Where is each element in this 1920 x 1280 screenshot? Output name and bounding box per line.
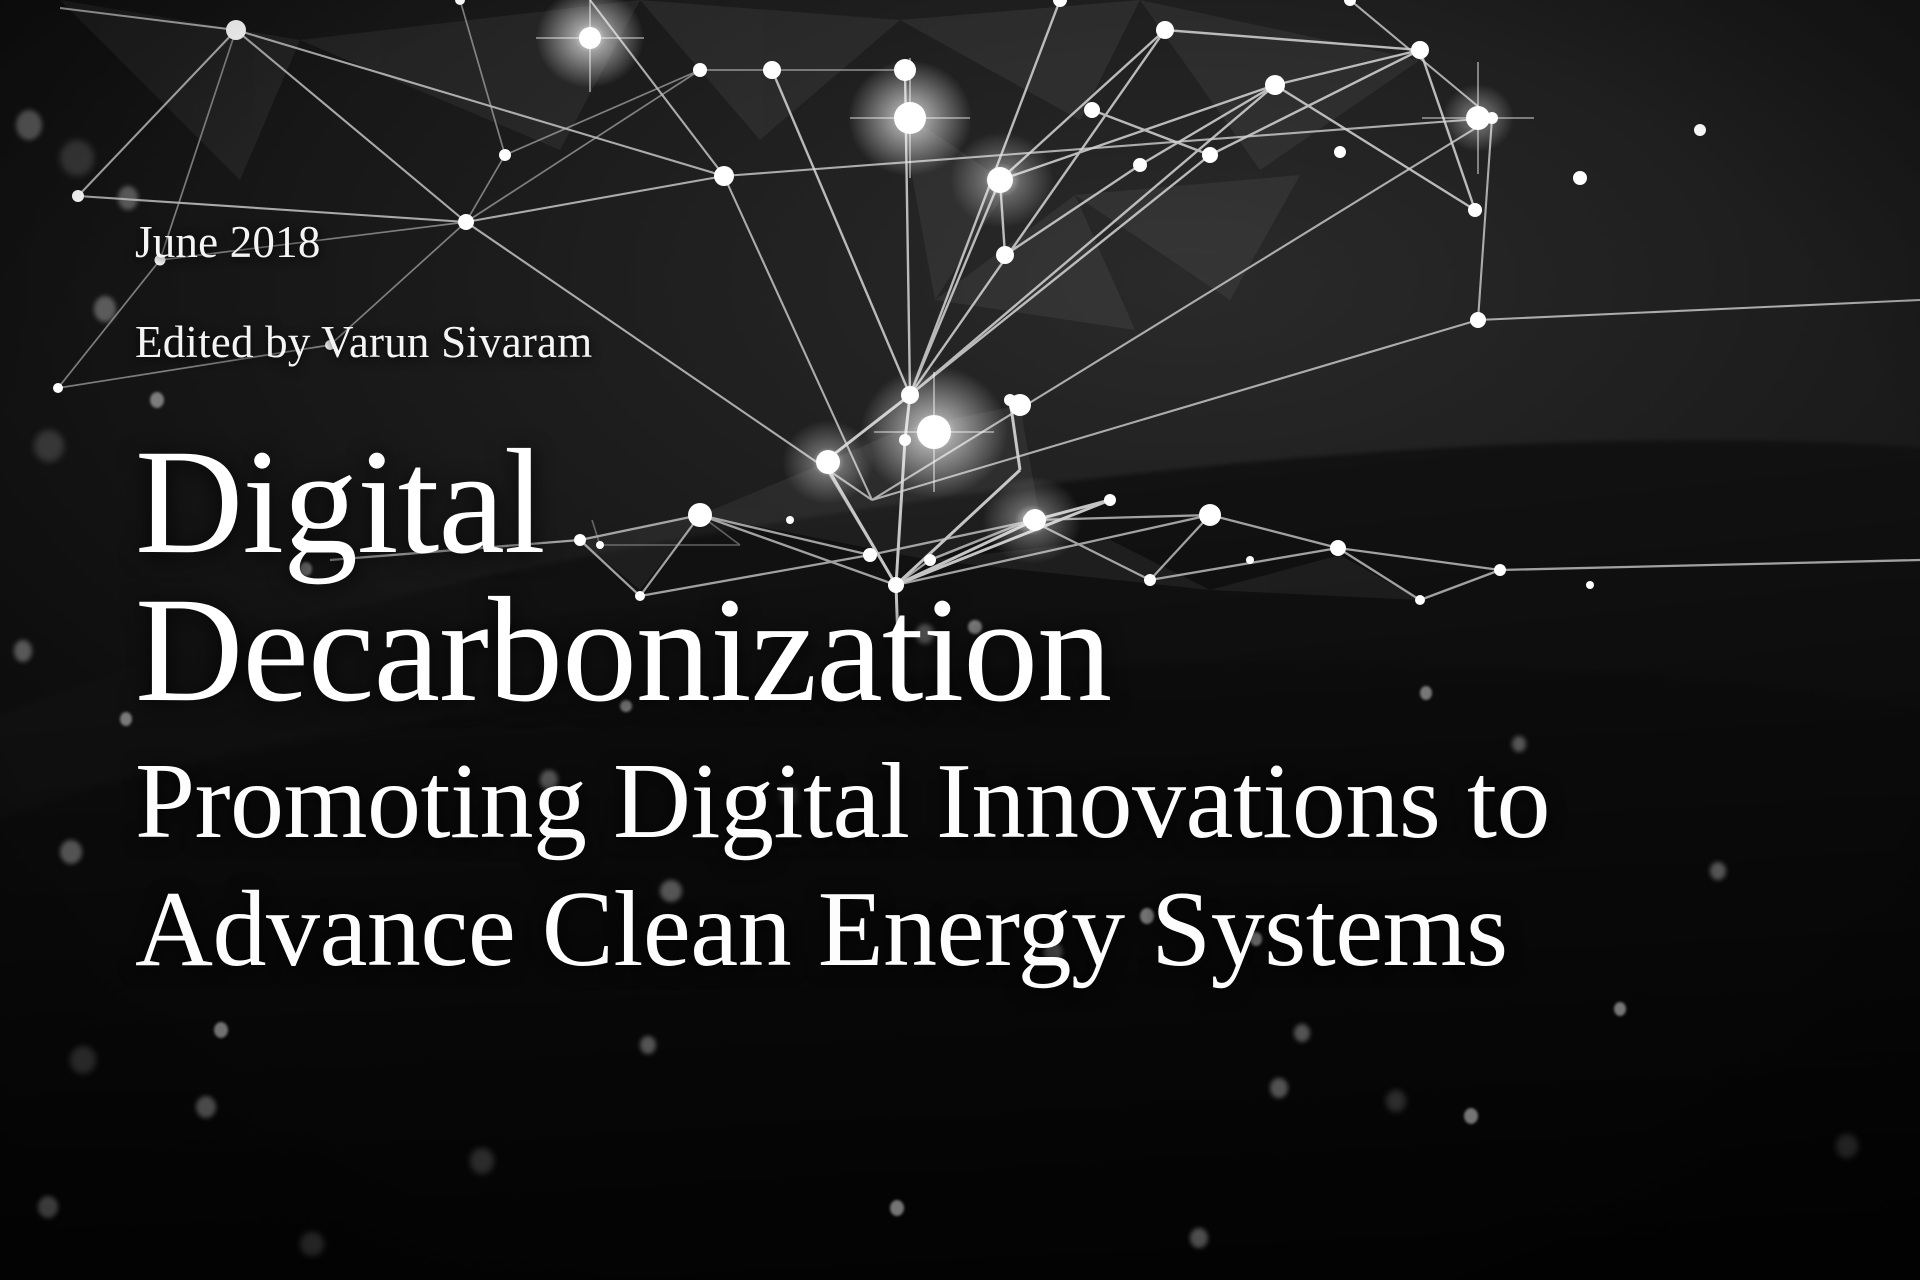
subtitle-line-2: Advance Clean Energy Systems — [135, 876, 1508, 984]
editor-credit: Edited by Varun Sivaram — [135, 316, 592, 368]
page-title-line-1: Digital — [135, 430, 545, 576]
cover-text: June 2018 Edited by Varun Sivaram Digita… — [0, 0, 1920, 1280]
page-title-line-2: Decarbonization — [135, 578, 1111, 724]
subtitle-line-1: Promoting Digital Innovations to — [135, 748, 1550, 856]
report-cover: June 2018 Edited by Varun Sivaram Digita… — [0, 0, 1920, 1280]
publication-date: June 2018 — [135, 216, 321, 268]
